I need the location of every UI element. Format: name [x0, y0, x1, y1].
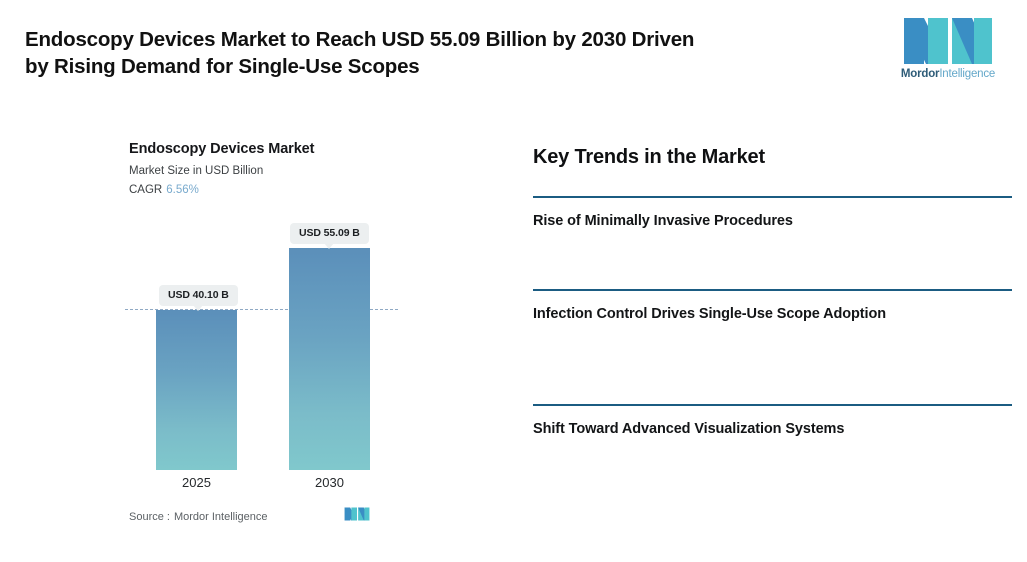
key-trends-heading: Key Trends in the Market — [533, 146, 1012, 196]
chart-panel: Endoscopy Devices Market Market Size in … — [0, 130, 500, 550]
bar-2025[interactable] — [156, 310, 237, 470]
page-title-line-1: Endoscopy Devices Market to Reach USD 55… — [25, 26, 875, 53]
brand-wordmark-light: Intelligence — [939, 68, 995, 80]
page-title-line-2: by Rising Demand for Single-Use Scopes — [25, 53, 875, 80]
key-trends-panel: Key Trends in the Market Rise of Minimal… — [533, 146, 1012, 464]
chart-source: Source :Mordor Intelligence — [129, 511, 268, 523]
x-axis-label-2030: 2030 — [289, 475, 370, 490]
trend-item-1-text: Rise of Minimally Invasive Procedures — [533, 212, 1012, 231]
brand-wordmark: MordorIntelligence — [898, 69, 998, 81]
chart-source-label: Source : — [129, 511, 170, 523]
brand-logo: MordorIntelligence — [898, 16, 998, 81]
chart-source-name: Mordor Intelligence — [174, 511, 268, 523]
bar-2025-value-tooltip: USD 40.10 B — [159, 285, 238, 306]
trend-item-3-text: Shift Toward Advanced Visualization Syst… — [533, 420, 1012, 439]
mordor-m-logo-icon — [902, 16, 994, 66]
page-title: Endoscopy Devices Market to Reach USD 55… — [25, 26, 875, 81]
trend-item-2[interactable]: Infection Control Drives Single-Use Scop… — [533, 289, 1012, 404]
source-mordor-m-logo-icon — [344, 506, 370, 522]
x-axis-label-2025: 2025 — [156, 475, 237, 490]
trend-item-2-text: Infection Control Drives Single-Use Scop… — [533, 305, 1012, 324]
trend-item-1[interactable]: Rise of Minimally Invasive Procedures — [533, 196, 1012, 289]
chart-plot-area: USD 40.10 B USD 55.09 B 2025 2030 — [0, 130, 500, 550]
bar-2030[interactable] — [289, 248, 370, 470]
brand-wordmark-bold: Mordor — [901, 68, 939, 80]
bar-2030-value-tooltip: USD 55.09 B — [290, 223, 369, 244]
trend-item-3[interactable]: Shift Toward Advanced Visualization Syst… — [533, 404, 1012, 464]
